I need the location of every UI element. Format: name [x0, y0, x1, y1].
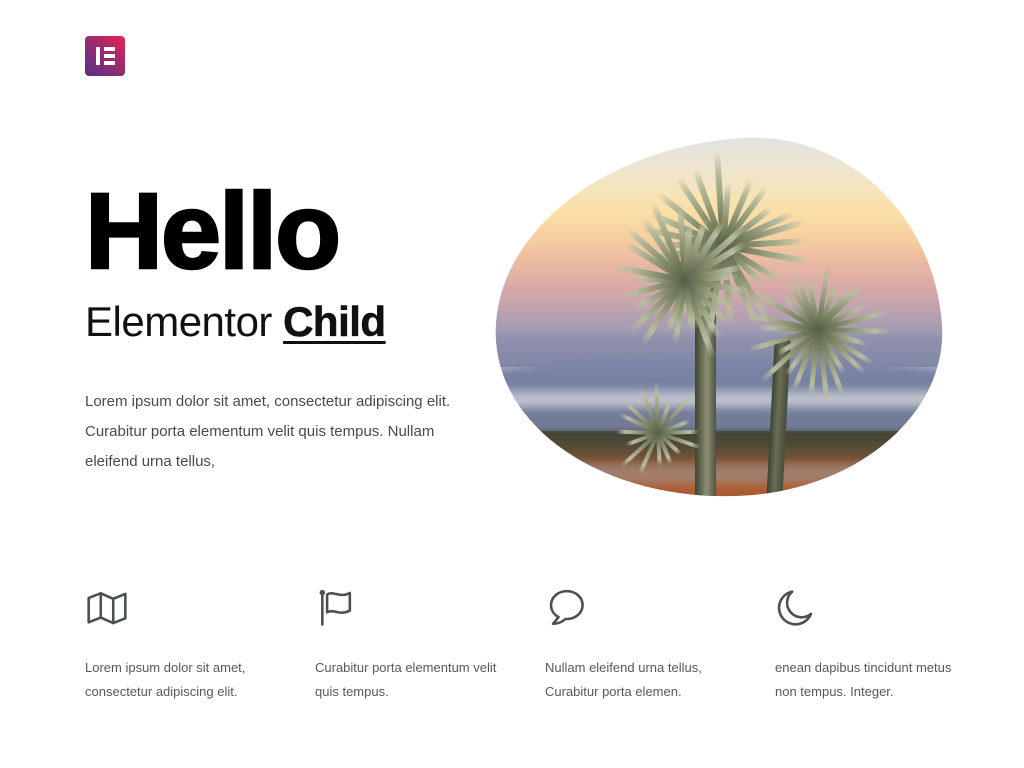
logo-bar-top: [104, 47, 115, 51]
plant-rosette-right: [758, 279, 878, 375]
hero-text-column: Hello Elementor Child Lorem ipsum dolor …: [85, 180, 485, 477]
elementor-logo-icon: [85, 36, 125, 76]
feature-item: Lorem ipsum dolor sit amet, consectetur …: [85, 586, 315, 704]
logo-bar-bottom: [104, 61, 115, 65]
page-title: Hello: [85, 180, 485, 283]
hero-subtitle-emphasis: Child: [283, 298, 385, 345]
speech-bubble-icon: [545, 586, 589, 630]
flag-icon: [315, 586, 359, 630]
hero-image-canvas: [483, 125, 953, 512]
feature-item: enean dapibus tincidunt metus non tempus…: [775, 586, 1005, 704]
plant-rosette-low: [618, 398, 698, 462]
hero-image-blob: [483, 125, 953, 512]
feature-caption: enean dapibus tincidunt metus non tempus…: [775, 656, 965, 704]
feature-caption: Lorem ipsum dolor sit amet, consectetur …: [85, 656, 275, 704]
map-icon: [85, 586, 129, 630]
feature-caption: Curabitur porta elementum velit quis tem…: [315, 656, 505, 704]
hero-lead-paragraph: Lorem ipsum dolor sit amet, consectetur …: [85, 387, 465, 477]
hero-subtitle: Elementor Child: [85, 299, 485, 345]
feature-item: Curabitur porta elementum velit quis tem…: [315, 586, 545, 704]
moon-icon: [775, 586, 819, 630]
feature-row: Lorem ipsum dolor sit amet, consectetur …: [85, 586, 943, 704]
elementor-logo[interactable]: [85, 36, 125, 76]
plant-rosette-left: [618, 223, 753, 331]
logo-bar-vertical: [96, 47, 100, 65]
feature-caption: Nullam eleifend urna tellus, Curabitur p…: [545, 656, 735, 704]
feature-item: Nullam eleifend urna tellus, Curabitur p…: [545, 586, 775, 704]
hero-subtitle-regular: Elementor: [85, 298, 272, 345]
page-root: Hello Elementor Child Lorem ipsum dolor …: [0, 0, 1024, 768]
aloe-plant: [483, 125, 953, 512]
logo-bar-middle: [104, 54, 115, 58]
